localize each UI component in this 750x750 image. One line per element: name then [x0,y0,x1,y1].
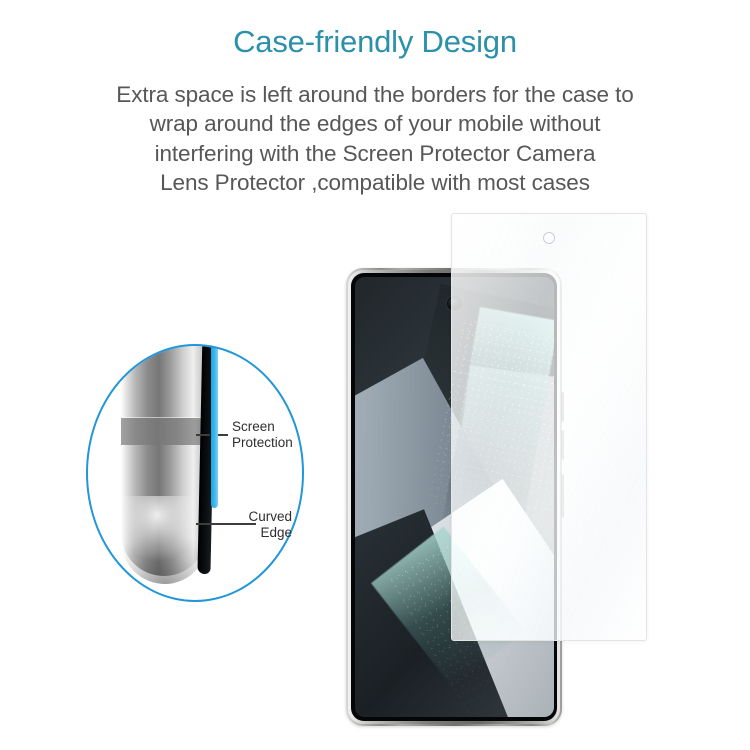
description-line-4: Lens Protector ,compatible with most cas… [18,168,732,197]
description-text: Extra space is left around the borders f… [18,80,732,197]
camera-cutout-icon [543,232,555,244]
screen-protection-label: Screen Protection [232,419,293,451]
screen-protector-sheet [451,213,647,641]
screen-protection-leader-line [196,434,210,436]
description-line-1: Extra space is left around the borders f… [18,80,732,109]
edge-detail-callout [86,344,304,602]
screen-protection-leader-tick [218,434,228,436]
page-title: Case-friendly Design [0,24,750,60]
callout-ring-outline [86,344,304,602]
description-line-2: wrap around the edges of your mobile wit… [18,109,732,138]
description-line-3: interfering with the Screen Protector Ca… [18,139,732,168]
curved-edge-label: Curved Edge [228,509,292,541]
